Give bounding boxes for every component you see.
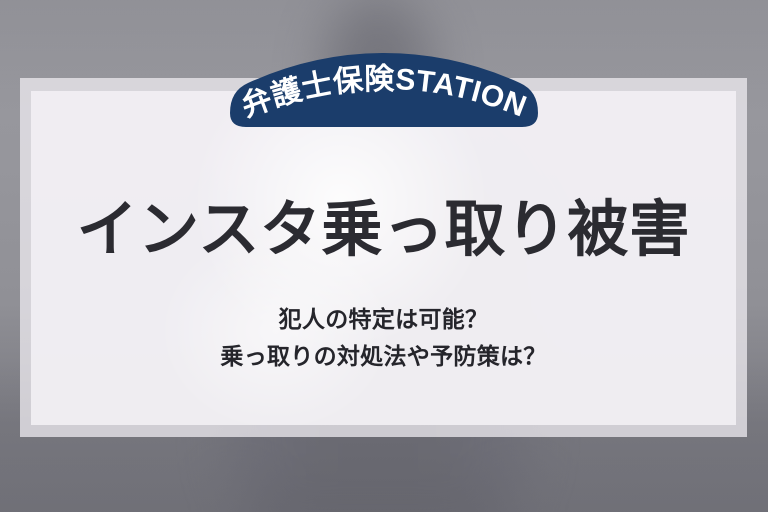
subtitle-line-2: 乗っ取りの対処法や予防策は？ <box>31 338 736 375</box>
brand-badge-shape: 弁護士保険STATION <box>222 57 546 129</box>
page-title: インスタ乗っ取り被害 <box>31 199 736 260</box>
eyecatch-canvas: インスタ乗っ取り被害 犯人の特定は可能？ 乗っ取りの対処法や予防策は？ 弁護士保… <box>0 0 768 512</box>
brand-badge: 弁護士保険STATION <box>222 57 546 129</box>
subtitle-line-1: 犯人の特定は可能？ <box>31 301 736 338</box>
subtitle-group: 犯人の特定は可能？ 乗っ取りの対処法や予防策は？ <box>31 301 736 376</box>
headline-block: インスタ乗っ取り被害 犯人の特定は可能？ 乗っ取りの対処法や予防策は？ <box>31 91 736 425</box>
